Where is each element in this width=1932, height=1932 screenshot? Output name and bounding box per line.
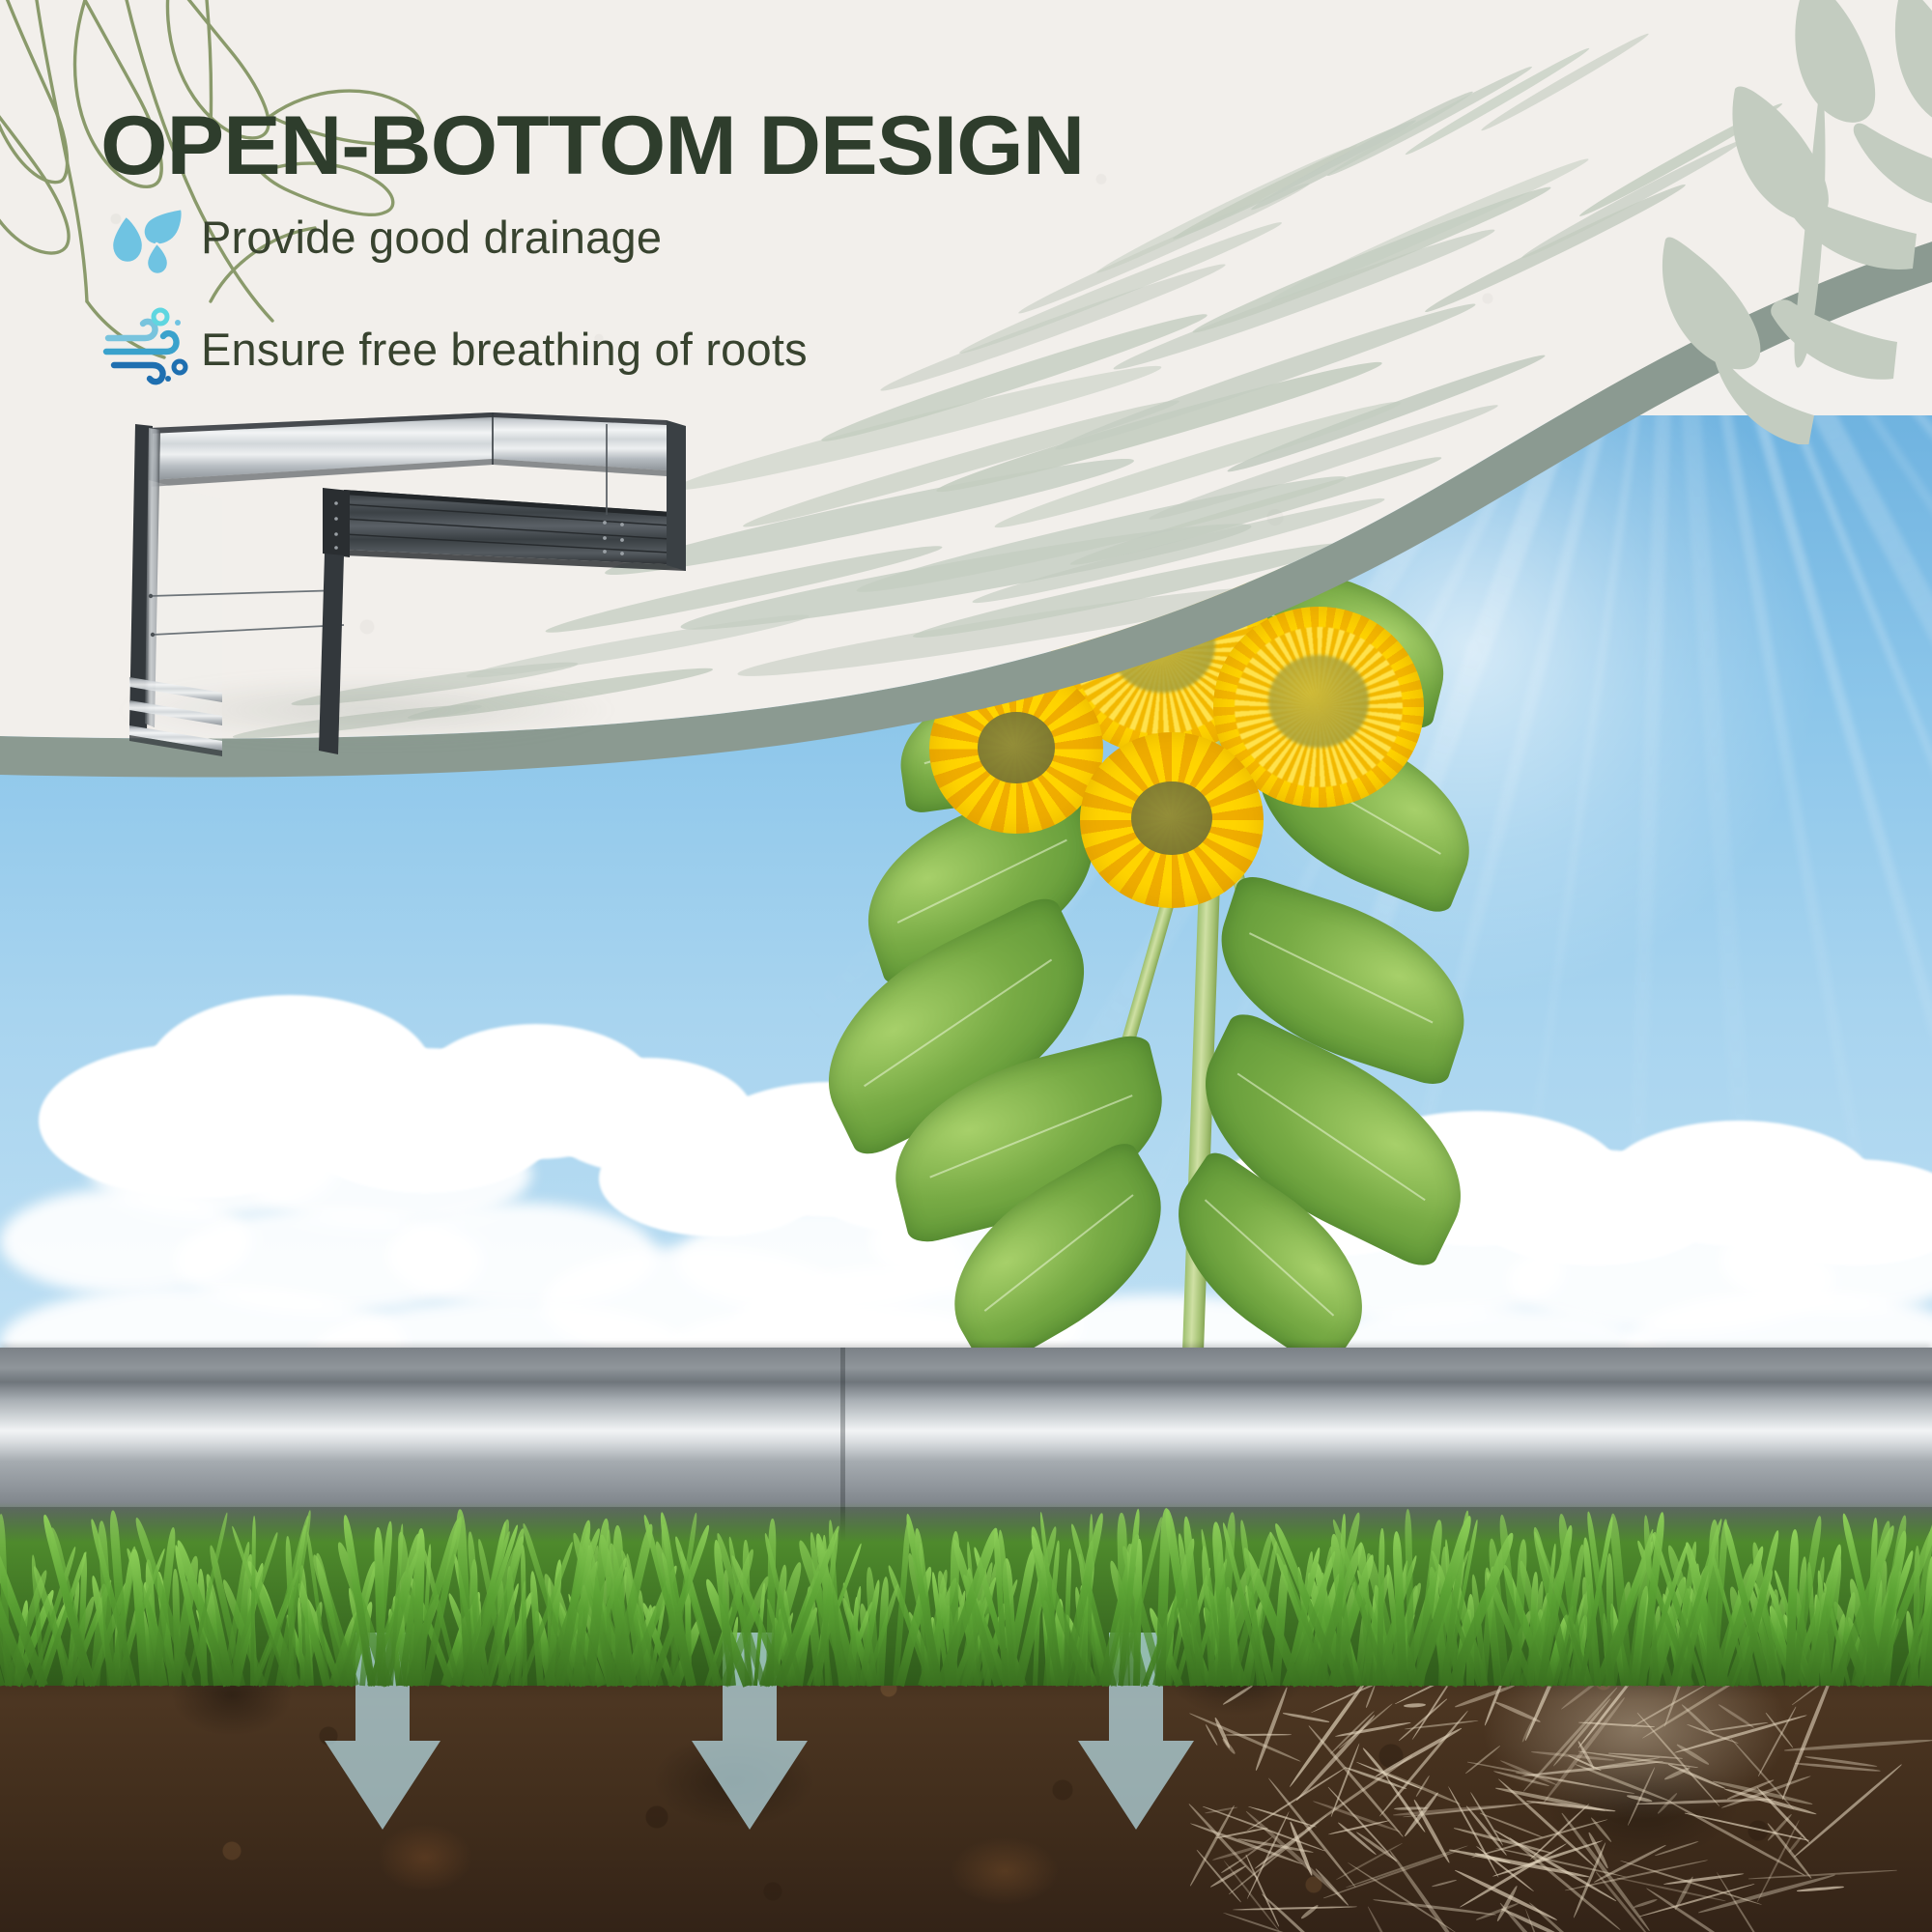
root-strand (1576, 1763, 1673, 1803)
feature-label: Ensure free breathing of roots (201, 323, 808, 376)
root-strand (1757, 1706, 1796, 1776)
root-strand (1655, 1840, 1699, 1857)
root-strand (1347, 1861, 1457, 1932)
root-strand (1633, 1898, 1658, 1909)
root-strand (1389, 1850, 1479, 1932)
root-strand (1636, 1798, 1774, 1805)
root-strand (1404, 1703, 1426, 1708)
root-strand (1367, 1906, 1435, 1932)
bed-left-front-side (319, 554, 344, 754)
leaf-branch-silhouette-icon (1565, 0, 1932, 444)
root-strand (1685, 1812, 1809, 1841)
bed-panel-front-dark (344, 490, 686, 571)
root-strand (1205, 1724, 1218, 1747)
root-strand (1464, 1745, 1500, 1774)
root-strand (1224, 1734, 1292, 1736)
root-strand (1432, 1879, 1458, 1888)
root-strand (1233, 1906, 1357, 1911)
feature-label: Provide good drainage (201, 211, 662, 264)
bed-corner-bracket (323, 488, 350, 557)
feature-list: Provide good drainage Ensure free breath… (97, 193, 808, 417)
root-strand (1283, 1712, 1330, 1723)
root-strand (1188, 1712, 1301, 1763)
page-title: OPEN-BOTTOM DESIGN (100, 104, 1084, 187)
grass-strip (0, 1502, 1932, 1686)
root-strand (1797, 1886, 1844, 1892)
feature-item-drainage: Provide good drainage (97, 193, 808, 280)
wind-breeze-icon (97, 307, 193, 390)
feature-item-breathing: Ensure free breathing of roots (97, 305, 808, 392)
root-system (1188, 1700, 1864, 1932)
water-drops-icon (97, 195, 193, 278)
root-strand (1222, 1738, 1236, 1755)
bed-right-end (667, 420, 686, 571)
product-render-l-shaped-raised-bed (106, 391, 696, 758)
bed-panel-back-left (149, 412, 667, 487)
root-strand (1669, 1801, 1805, 1876)
marketing-infographic: OPEN-BOTTOM DESIGN Provide good drainage (0, 0, 1932, 1932)
